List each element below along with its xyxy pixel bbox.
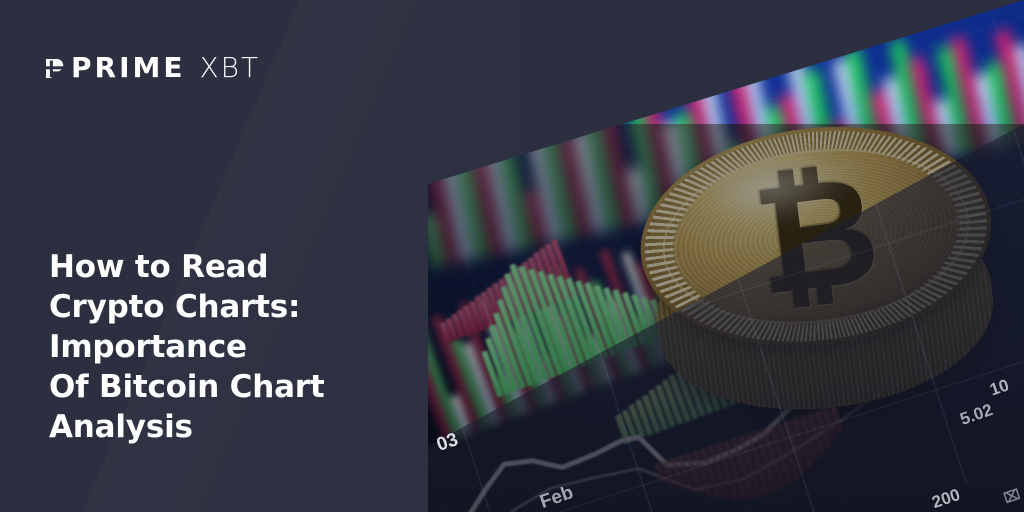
logo-text-xbt: XBT [200, 54, 261, 82]
prime-p-mark-icon [42, 55, 68, 81]
page-title-line: Of Bitcoin Chart [49, 367, 401, 407]
logo-text-prime: PRIME [71, 54, 186, 82]
page-title-line: Analysis [49, 407, 401, 447]
primexbt-logo[interactable]: PRIME XBT [42, 51, 260, 85]
page-title-line: How to Read [49, 247, 401, 287]
page-title-line: Crypto Charts: [49, 287, 401, 327]
page-title-line: Importance [49, 327, 401, 367]
promo-banner: ₿ 03 Feb 10 5.02 200 ⌧ PRIME XBT [0, 0, 1024, 512]
page-title: How to ReadCrypto Charts:ImportanceOf Bi… [49, 247, 401, 447]
